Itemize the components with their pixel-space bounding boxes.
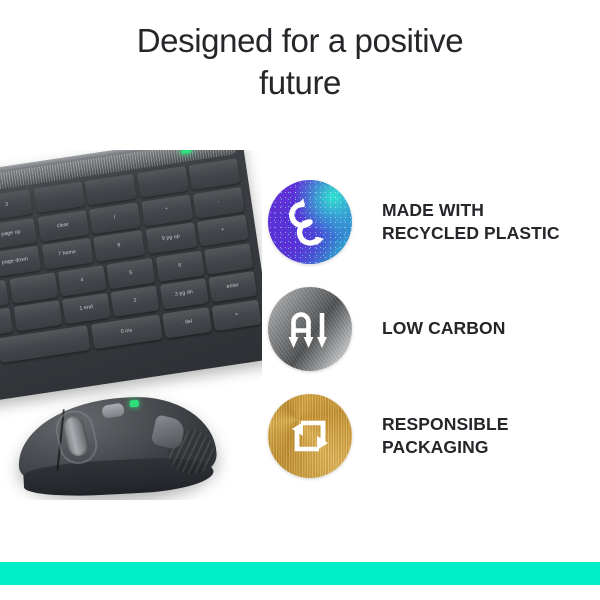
badge-label-line-2: PACKAGING — [382, 436, 509, 459]
carbon-down-arrow-glyph — [268, 287, 352, 371]
mouse-status-led — [130, 400, 139, 407]
key: 8 — [93, 230, 145, 262]
key: 0 ins — [91, 314, 163, 349]
key: = — [212, 299, 262, 331]
sustainability-badge-list: MADE WITH RECYCLED PLASTIC — [268, 168, 600, 489]
key: 9 pg up — [145, 222, 197, 254]
key: + — [197, 214, 249, 246]
key: / — [89, 202, 141, 234]
key: 7 home — [41, 238, 93, 270]
key: 1 end — [62, 293, 111, 325]
key: page up — [0, 217, 37, 249]
badge-label-line-1: MADE WITH — [382, 199, 560, 222]
badge-label: RESPONSIBLE PACKAGING — [382, 413, 509, 459]
badge-label-line-2: RECYCLED PLASTIC — [382, 222, 560, 245]
key: 2 — [111, 285, 160, 317]
key — [13, 300, 62, 332]
key: page down — [0, 245, 41, 277]
headline-line-2: future — [60, 62, 540, 104]
key: * — [141, 194, 193, 226]
accent-bar — [0, 562, 600, 585]
key: - — [193, 186, 245, 218]
low-carbon-icon — [268, 287, 352, 371]
key — [9, 272, 58, 304]
headline-line-1: Designed for a positive — [137, 22, 464, 59]
mouse-image — [15, 387, 220, 500]
key: 4 — [58, 265, 107, 297]
badge-label: LOW CARBON — [382, 317, 505, 340]
key: clear — [37, 210, 89, 242]
badge-label-line-1: LOW CARBON — [382, 317, 505, 340]
badge-row: LOW CARBON — [268, 275, 600, 382]
key: 5 — [106, 257, 155, 289]
badge-row: MADE WITH RECYCLED PLASTIC — [268, 168, 600, 275]
recycled-plastic-icon — [268, 180, 352, 264]
page-title: Designed for a positive future — [60, 20, 540, 104]
product-photo: 1 2 3 home page up clear / * - — [0, 150, 262, 500]
key — [204, 243, 253, 275]
key: 6 — [155, 250, 204, 282]
badge-label: MADE WITH RECYCLED PLASTIC — [382, 199, 560, 245]
key: . del — [162, 306, 212, 338]
key: 3 pg dn — [159, 278, 208, 310]
keyboard-keys: 1 2 3 home page up clear / * - — [0, 158, 262, 407]
key: enter — [208, 271, 257, 303]
responsible-packaging-icon — [268, 394, 352, 478]
badge-label-line-1: RESPONSIBLE — [382, 413, 509, 436]
keyboard-image: 1 2 3 home page up clear / * - — [0, 150, 262, 415]
packaging-loop-glyph — [268, 394, 352, 478]
marketing-image: Designed for a positive future 1 2 3 — [0, 0, 600, 600]
key — [0, 307, 13, 339]
badge-row: RESPONSIBLE PACKAGING — [268, 382, 600, 489]
key: 3 — [0, 189, 33, 221]
recycle-loop-glyph — [268, 180, 352, 264]
key — [0, 279, 9, 311]
